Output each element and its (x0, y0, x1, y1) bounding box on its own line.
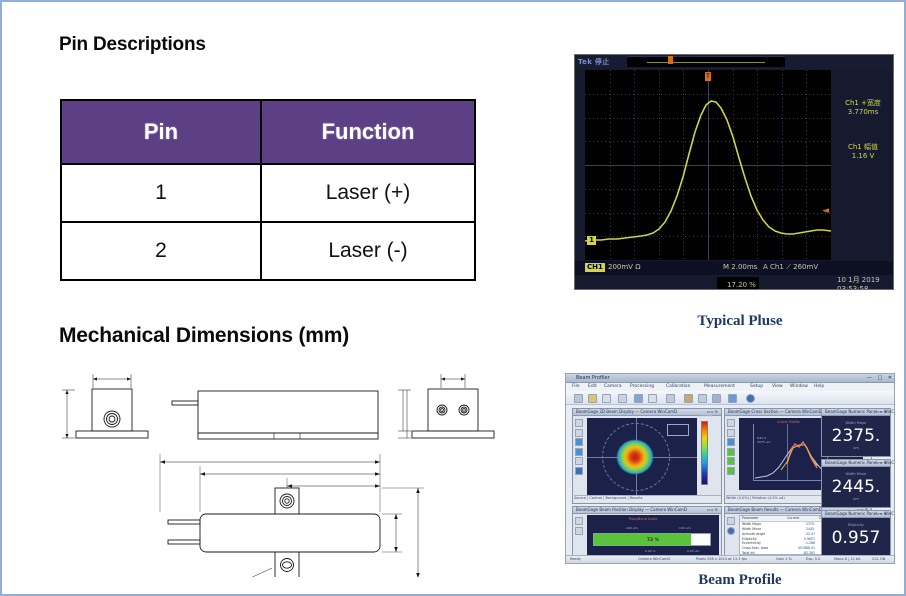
num1-label: Width Major (822, 421, 890, 425)
colorbar-label: Z Scale (699, 414, 712, 418)
menu-item-window[interactable]: Window (790, 384, 808, 389)
print-icon[interactable] (618, 394, 627, 403)
menu-item-camera[interactable]: Camera (604, 384, 622, 389)
beam-window-controls[interactable]: — □ ✕ (867, 375, 894, 381)
scope-position-readout: 17.20 % (717, 277, 759, 290)
fit-icon[interactable] (727, 457, 735, 465)
panel-bar-title: BeamGage Beam Position Display — Camera … (576, 507, 687, 512)
beam-window-titlebar: Beam Profiler — □ ✕ (566, 374, 895, 383)
grid-icon[interactable] (698, 394, 707, 403)
typical-pulse-caption: Typical Pluse (612, 313, 868, 330)
panel-chart-title: BeamGage Cross Section — Camera WinCamD (728, 409, 822, 414)
table-row: 2 Laser (-) (61, 222, 475, 280)
trigger-position-marker: T (705, 72, 711, 81)
column-header-function: Function (261, 100, 475, 164)
pan-icon[interactable] (575, 429, 583, 437)
beam-2d-canvas (587, 418, 697, 496)
scope-record-strip (627, 56, 785, 67)
scope-datetime: 10 1月 2019 03:53:58 (837, 276, 880, 290)
table-row: 1 Laser (+) (61, 164, 475, 222)
open-icon[interactable] (574, 394, 583, 403)
folder-icon[interactable] (588, 394, 597, 403)
beam-position-bar: 72 % (593, 533, 711, 546)
aperture-icon[interactable] (575, 448, 583, 456)
beam-intensity-spot (617, 440, 653, 474)
mechanical-dimensions-heading: Mechanical Dimensions (mm) (59, 324, 349, 348)
crosshair-icon[interactable] (575, 438, 583, 446)
scope-vertical-scale: 200mV Ω (608, 263, 641, 272)
panel-2d-title: BeamGage 2D Beam Display — Camera WinCam… (576, 409, 677, 414)
mech-top-view (160, 454, 424, 577)
num3-window-controls[interactable]: ▫▫✕ (876, 511, 888, 516)
beam-profile-screenshot: Beam Profiler — □ ✕ File Edit Camera Pro… (565, 373, 895, 564)
capture-icon[interactable] (666, 394, 675, 403)
beam-position-canvas: Pass/Band Scale -100 um 100 um 72 % 0.00… (587, 515, 719, 559)
channel-1-ground-marker: 1 (587, 236, 596, 245)
measurement-amplitude: Ch1 幅值 1.16 V (834, 143, 892, 161)
panel-beam-position: BeamGage Beam Position Display — Camera … (572, 506, 722, 562)
panel-results-title: BeamGage Beam Results — Camera WinCamD (728, 507, 822, 512)
num2-value: 2445. (822, 477, 890, 497)
palette-toggle-icon[interactable] (575, 467, 583, 475)
settings-icon[interactable] (728, 394, 737, 403)
scope-brand-label: Tek 停止 (578, 57, 610, 67)
numeric-display-width-major: BeamGage Numeric Panel — WinCamD ▫▫✕ Wid… (821, 408, 891, 457)
beam-window-title: Beam Profiler (576, 375, 610, 381)
menu-item-view[interactable]: View (772, 384, 783, 389)
status-ccl: CCL ON (872, 557, 885, 561)
panel-bar-tool-strip (575, 517, 585, 557)
bar-chart-title: Pass/Band Scale (629, 517, 657, 521)
marker-icon[interactable] (575, 457, 583, 465)
beam-status-bar: Ready Camera WinCamD Pixels 256 x 1024 a… (566, 555, 895, 563)
mech-right-end-view (398, 374, 494, 438)
menu-item-setup[interactable]: Setup (750, 384, 763, 389)
bar-tick-left: -100 um (625, 526, 638, 530)
camera-icon[interactable] (634, 394, 643, 403)
panel-results-tool-strip (727, 517, 737, 557)
run-icon[interactable] (648, 394, 657, 403)
num3-label: Ellipticity (822, 523, 890, 527)
cell-pin-number: 2 (61, 222, 261, 280)
scope-trigger-info: A Ch1 ⟋ 260mV (763, 263, 818, 272)
crosshair-icon[interactable] (727, 438, 735, 446)
num1-unit: um (822, 446, 890, 450)
num1-header: BeamGage Numeric Panel — WinCamD ▫▫✕ (822, 409, 890, 416)
scope-status-bar: 17.20 % 10 1月 2019 03:53:58 (575, 275, 894, 290)
menu-item-file[interactable]: File (572, 384, 580, 389)
status-camera: Camera WinCamD (638, 557, 670, 561)
num2-unit: um (822, 497, 890, 501)
numeric-display-ellipticity: BeamGage Numeric Panel — WinCamD ▫▫✕ Ell… (821, 510, 891, 559)
chart-icon[interactable] (712, 394, 721, 403)
numeric-display-width-minor: BeamGage Numeric Panel — WinCamD ▫▫✕ Wid… (821, 459, 891, 508)
num1-value: 2375. (822, 426, 890, 446)
scope-bottom-bar: CH1 200mV Ω M 2.00ms A Ch1 ⟋ 260mV (575, 261, 894, 275)
beam-roi-box[interactable] (667, 424, 689, 436)
oscilloscope-screenshot: Tek 停止 T (574, 54, 894, 290)
export-icon[interactable] (727, 467, 735, 475)
cell-pin-number: 1 (61, 164, 261, 222)
menu-item-calibration[interactable]: Calibration (666, 384, 690, 389)
scope-top-bar: Tek 停止 (575, 55, 894, 69)
panel-2d-tool-strip (575, 419, 585, 495)
info-icon[interactable] (746, 394, 755, 403)
mechanical-drawing (50, 362, 520, 577)
num2-window-controls[interactable]: ▫▫✕ (876, 460, 888, 465)
expand-icon[interactable] (727, 517, 735, 525)
beam-toolbar (566, 391, 895, 405)
beam-profile-caption: Beam Profile (612, 572, 868, 589)
bullet-icon[interactable] (727, 527, 735, 535)
zoom-icon[interactable] (575, 419, 583, 427)
cell-pin-function: Laser (+) (261, 164, 475, 222)
zoom-icon[interactable] (727, 419, 735, 427)
cell-pin-function: Laser (-) (261, 222, 475, 280)
pin-descriptions-table: Pin Function 1 Laser (+) 2 Laser (-) (60, 99, 476, 281)
palette-icon[interactable] (684, 394, 693, 403)
pin-descriptions-heading: Pin Descriptions (59, 34, 206, 56)
scope-horizontal-scale: M 2.00ms (723, 263, 757, 272)
scope-record-trace (647, 62, 765, 63)
bar-tick-right: 100 um (679, 526, 691, 530)
scope-graticule: T 1 ◄ (585, 70, 831, 260)
menu-item-processing[interactable]: Processing (630, 384, 654, 389)
num3-header: BeamGage Numeric Panel — WinCamD ▫▫✕ (822, 511, 890, 518)
status-mono: Mono 8 | 12 bit (834, 557, 860, 561)
num1-window-controls[interactable]: ▫▫✕ (876, 409, 888, 414)
scope-waveform (585, 70, 831, 260)
status-pixels: Pixels 256 x 1024 at 13.3 fps (696, 557, 747, 561)
column-header-pin: Pin (61, 100, 261, 164)
autoscale-icon[interactable] (727, 448, 735, 456)
num3-value: 0.957 (822, 528, 890, 548)
bar-tick-bottom-right: 0.00 um (687, 549, 699, 553)
panel-chart-tool-strip (727, 419, 737, 495)
scope-channel-badge: CH1 (585, 263, 605, 272)
status-exposure: Exp. 5.0 (806, 557, 820, 561)
panel-bar-header: BeamGage Beam Position Display — Camera … (573, 507, 721, 514)
beam-menubar: File Edit Camera Processing Calibration … (566, 383, 895, 391)
bar-tick-bottom-left: 0.00 % (645, 549, 655, 553)
mech-left-end-view (62, 374, 148, 438)
mech-side-view (172, 391, 378, 439)
panel-bar-window-controls[interactable]: ▫▫✕ (707, 507, 719, 512)
beam-colorbar (701, 421, 708, 485)
trigger-level-marker: ◄ (822, 207, 829, 216)
beam-position-percent: 72 % (594, 534, 712, 547)
num2-label: Width Minor (822, 472, 890, 476)
settings-icon[interactable] (575, 527, 583, 535)
menu-item-measurement[interactable]: Measurement (704, 384, 735, 389)
menu-item-edit[interactable]: Edit (588, 384, 597, 389)
panel-2d-beam-display: BeamGage 2D Beam Display — Camera WinCam… (572, 408, 722, 504)
table-header-row: Pin Function (61, 100, 475, 164)
pan-icon[interactable] (727, 429, 735, 437)
num2-header: BeamGage Numeric Panel — WinCamD ▫▫✕ (822, 460, 890, 467)
status-gain: Gain 1 % (776, 557, 792, 561)
zoom-icon[interactable] (575, 517, 583, 525)
panel-2d-footer: Source | Control | Background | Results (574, 495, 721, 502)
status-ready: Ready (570, 557, 581, 561)
save-icon[interactable] (602, 394, 611, 403)
scope-record-position-marker (668, 56, 673, 64)
menu-item-help[interactable]: Help (814, 384, 824, 389)
measurement-pulse-width: Ch1 +宽度 3.770ms (834, 99, 892, 117)
page-root: Pin Descriptions Pin Function 1 Laser (+… (0, 0, 906, 596)
